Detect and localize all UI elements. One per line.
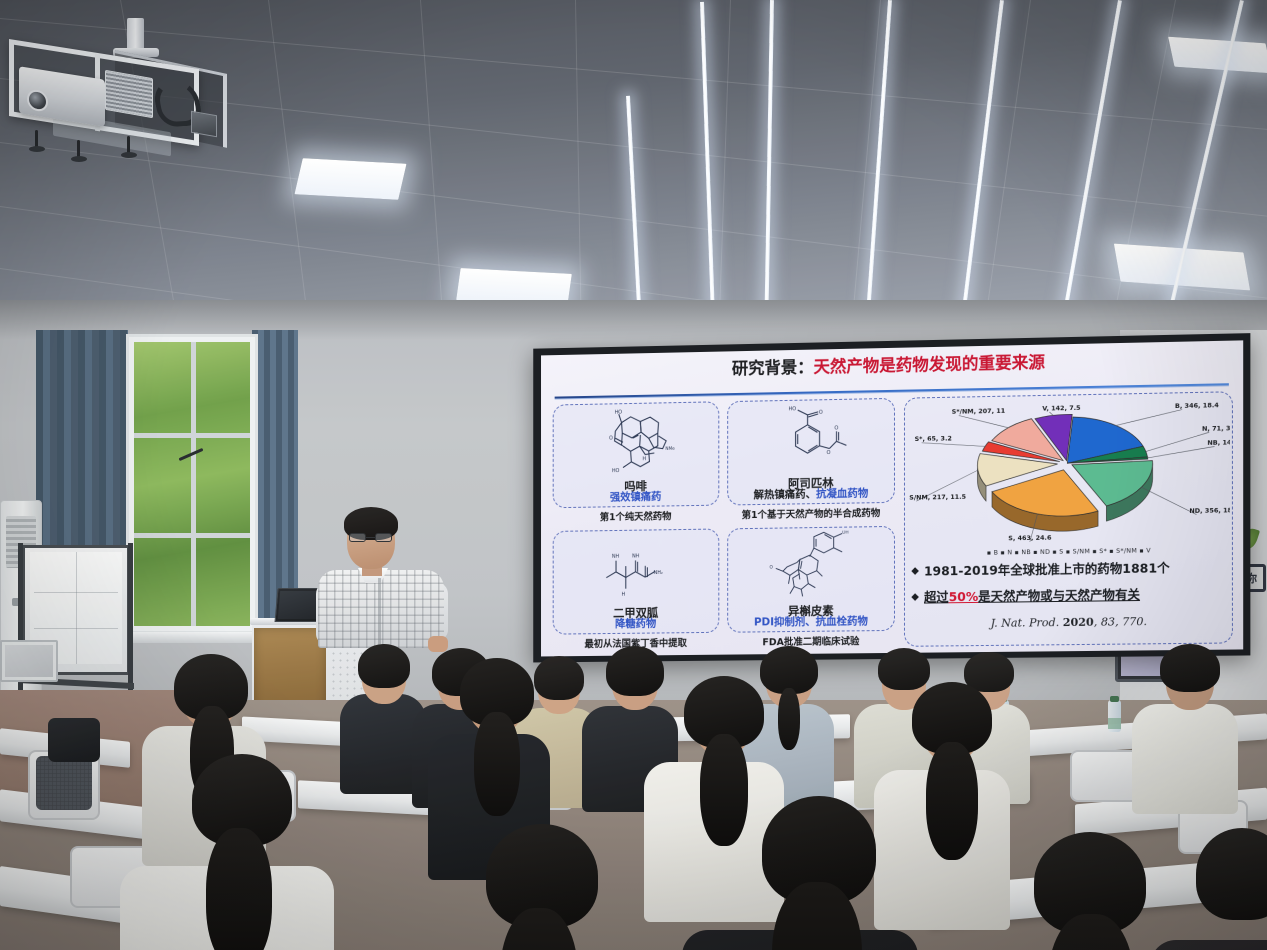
presenter-shirt-placket — [378, 578, 381, 648]
molecule-subtitle-accent: 抗凝血药物 — [816, 488, 868, 501]
window-mullion — [134, 533, 250, 538]
svg-text:NH₂: NH₂ — [654, 571, 663, 577]
molecule-footnote: 第1个纯天然药物 — [600, 508, 672, 523]
ceiling-strip-light — [700, 2, 716, 342]
molecule-card-body: OH O 异槲皮素 PDI抑制剂、抗血栓药物 — [727, 526, 895, 633]
slide-title-main: 天然产物是药物发现的重要来源 — [814, 353, 1045, 377]
projector-mount-foot — [121, 152, 137, 158]
molecule-card-metformin: NH NH H NH₂ 二甲双胍 降糖药物 最初从 — [553, 528, 719, 650]
ceiling-strip-light — [958, 0, 1004, 343]
slide-title: 研究背景：天然产物是药物发现的重要来源 — [551, 350, 1233, 381]
aspirin-structure-icon: HO O O O — [728, 401, 894, 478]
person-ponytail — [926, 742, 978, 860]
svg-text:O: O — [769, 565, 773, 570]
person-hair — [1160, 644, 1220, 692]
projector-mount-foot — [71, 156, 87, 162]
person-ponytail — [206, 828, 272, 950]
pie-slice-label: ND, 356, 18.9 — [1190, 507, 1230, 515]
molecule-card-grid: HO O HO NMe H 吗啡 强效镇痛药 — [553, 398, 896, 651]
svg-text:HO: HO — [615, 410, 623, 416]
person-body — [1132, 704, 1238, 814]
molecule-card-aspirin: HO O O O 阿司匹林 解热镇痛药、抗凝血药物 — [727, 398, 895, 522]
svg-text:OH: OH — [842, 531, 849, 535]
ceiling-light-panel — [294, 158, 406, 200]
diamond-bullet-icon: ◆ — [911, 591, 919, 604]
molecule-card-body: HO O HO NMe H 吗啡 强效镇痛药 — [553, 401, 719, 508]
person-ponytail — [474, 712, 520, 816]
pie-slice-label: V, 142, 7.5 — [1043, 405, 1081, 413]
pie-slice-label: S*, 65, 3.2 — [915, 435, 952, 443]
window-sill — [124, 632, 264, 643]
ceiling-strip-light — [1059, 0, 1122, 336]
svg-text:O: O — [609, 436, 613, 442]
molecule-subtitle: PDI抑制剂、抗血栓药物 — [754, 617, 868, 630]
bullet-item: ◆ 超过50%是天然产物或与天然产物有关 — [911, 587, 1228, 606]
citation-page: 770. — [1122, 615, 1147, 628]
svg-text:NMe: NMe — [666, 446, 676, 451]
person-body — [1150, 940, 1267, 950]
molecule-card-row-top: HO O HO NMe H 吗啡 强效镇痛药 — [553, 398, 896, 524]
isoquercetin-structure-icon: OH O — [728, 529, 894, 605]
pie-slice-label: NB, 14, 0.8 — [1208, 439, 1230, 447]
molecule-subtitle: 降糖药物 — [615, 619, 656, 631]
projection-screen: 研究背景：天然产物是药物发现的重要来源 — [533, 333, 1250, 662]
person-hair — [606, 646, 664, 696]
citation-year: 2020 — [1063, 615, 1094, 628]
bullet-item: ◆ 1981-2019年全球批准上市的药物1881个 — [911, 560, 1228, 580]
svg-text:O: O — [834, 426, 838, 432]
side-display-left — [0, 640, 58, 682]
svg-text:O: O — [819, 410, 823, 416]
citation-journal: J. Nat. Prod. — [991, 616, 1060, 630]
molecule-card-morphine: HO O HO NMe H 吗啡 强效镇痛药 — [553, 401, 719, 524]
whiteboard-leg — [128, 543, 133, 693]
person-hair — [358, 644, 410, 688]
presenter — [318, 512, 444, 642]
molecule-footnote: FDA批准二期临床试验 — [762, 633, 859, 648]
svg-text:NH: NH — [612, 554, 620, 560]
pie-slice-label: S*/NM, 207, 11 — [952, 408, 1005, 416]
pie-slice-label: B, 346, 18.4 — [1175, 402, 1220, 410]
projector-mount-foot — [29, 146, 45, 152]
bullet-lead: 超过 — [924, 591, 949, 605]
slide-bullet-list: ◆ 1981-2019年全球批准上市的药物1881个 ◆ 超过50%是天然产物或… — [911, 560, 1228, 630]
bullet-text: 1981-2019年全球批准上市的药物1881个 — [924, 561, 1170, 580]
ceiling-projector — [5, 18, 265, 183]
svg-text:O: O — [826, 451, 830, 457]
projector-vent — [105, 70, 153, 118]
ceiling-strip-light — [764, 0, 774, 350]
window — [126, 334, 258, 634]
person-hair — [760, 646, 818, 694]
molecule-footnote: 第1个基于天然产物的半合成药物 — [742, 505, 881, 521]
molecule-card-isoquercetin: OH O 异槲皮素 PDI抑制剂、抗血栓药物 FDA批准二期临床试验 — [727, 526, 895, 649]
bullet-percent: 50% — [949, 590, 979, 604]
slide-citation: J. Nat. Prod. 2020, 83, 770. — [911, 614, 1228, 631]
projected-slide: 研究背景：天然产物是药物发现的重要来源 — [541, 340, 1243, 656]
molecule-card-row-bottom: NH NH H NH₂ 二甲双胍 降糖药物 最初从 — [553, 526, 896, 651]
backpack — [48, 718, 100, 762]
water-bottle-label — [1108, 718, 1121, 729]
pie-slice-label: S/NM, 217, 11.5 — [910, 494, 967, 502]
diamond-bullet-icon: ◆ — [911, 565, 919, 578]
window-mullion — [134, 433, 250, 438]
glasses-icon — [349, 533, 392, 542]
chair-mesh-back — [36, 756, 92, 810]
pie-slice-label: N, 71, 3.8 — [1202, 425, 1230, 433]
water-bottle-cap — [1110, 696, 1119, 702]
chair — [1070, 750, 1140, 802]
person-hair — [878, 648, 930, 690]
slide-title-prefix: 研究背景： — [732, 358, 814, 379]
metformin-structure-icon: NH NH H NH₂ — [554, 531, 718, 606]
pie-slice-label: S, 463, 24.6 — [1009, 535, 1053, 543]
bullet-tail: 是天然产物或与天然产物有关 — [978, 588, 1140, 604]
projector-junction-box — [191, 111, 217, 138]
person-hair — [534, 656, 584, 700]
presenter-hand — [428, 636, 448, 652]
slide-body: HO O HO NMe H 吗啡 强效镇痛药 — [553, 391, 1233, 650]
svg-text:HO: HO — [612, 468, 620, 474]
lecture-hall-scene: 八里而里 家里等你 研究背景：天然产物是药物发现的重要来源 — [0, 0, 1267, 950]
statistics-panel: B, 346, 18.4N, 71, 3.8NB, 14, 0.8ND, 356… — [904, 391, 1233, 647]
person-ponytail — [778, 688, 800, 750]
svg-text:H: H — [643, 457, 647, 463]
pie-chart: B, 346, 18.4N, 71, 3.8NB, 14, 0.8ND, 356… — [907, 394, 1230, 550]
molecule-subtitle: 解热镇痛药、抗凝血药物 — [754, 489, 869, 502]
molecule-subtitle: 强效镇痛药 — [610, 492, 661, 504]
molecule-subtitle-plain: 解热镇痛药、 — [754, 489, 816, 502]
window-mullion — [191, 342, 196, 626]
molecule-card-body: HO O O O 阿司匹林 解热镇痛药、抗凝血药物 — [727, 398, 895, 506]
person-ponytail — [700, 734, 748, 846]
side-display-left-screen — [5, 645, 53, 677]
ceiling-light-panel — [1168, 37, 1267, 74]
svg-text:NH: NH — [632, 554, 640, 560]
morphine-structure-icon: HO O HO NMe H — [554, 404, 718, 480]
citation-volume: 83 — [1101, 615, 1115, 628]
svg-text:HO: HO — [788, 407, 796, 413]
svg-text:H: H — [622, 592, 626, 598]
molecule-card-body: NH NH H NH₂ 二甲双胍 降糖药物 — [553, 528, 719, 634]
bullet-text: 超过50%是天然产物或与天然产物有关 — [924, 588, 1140, 606]
